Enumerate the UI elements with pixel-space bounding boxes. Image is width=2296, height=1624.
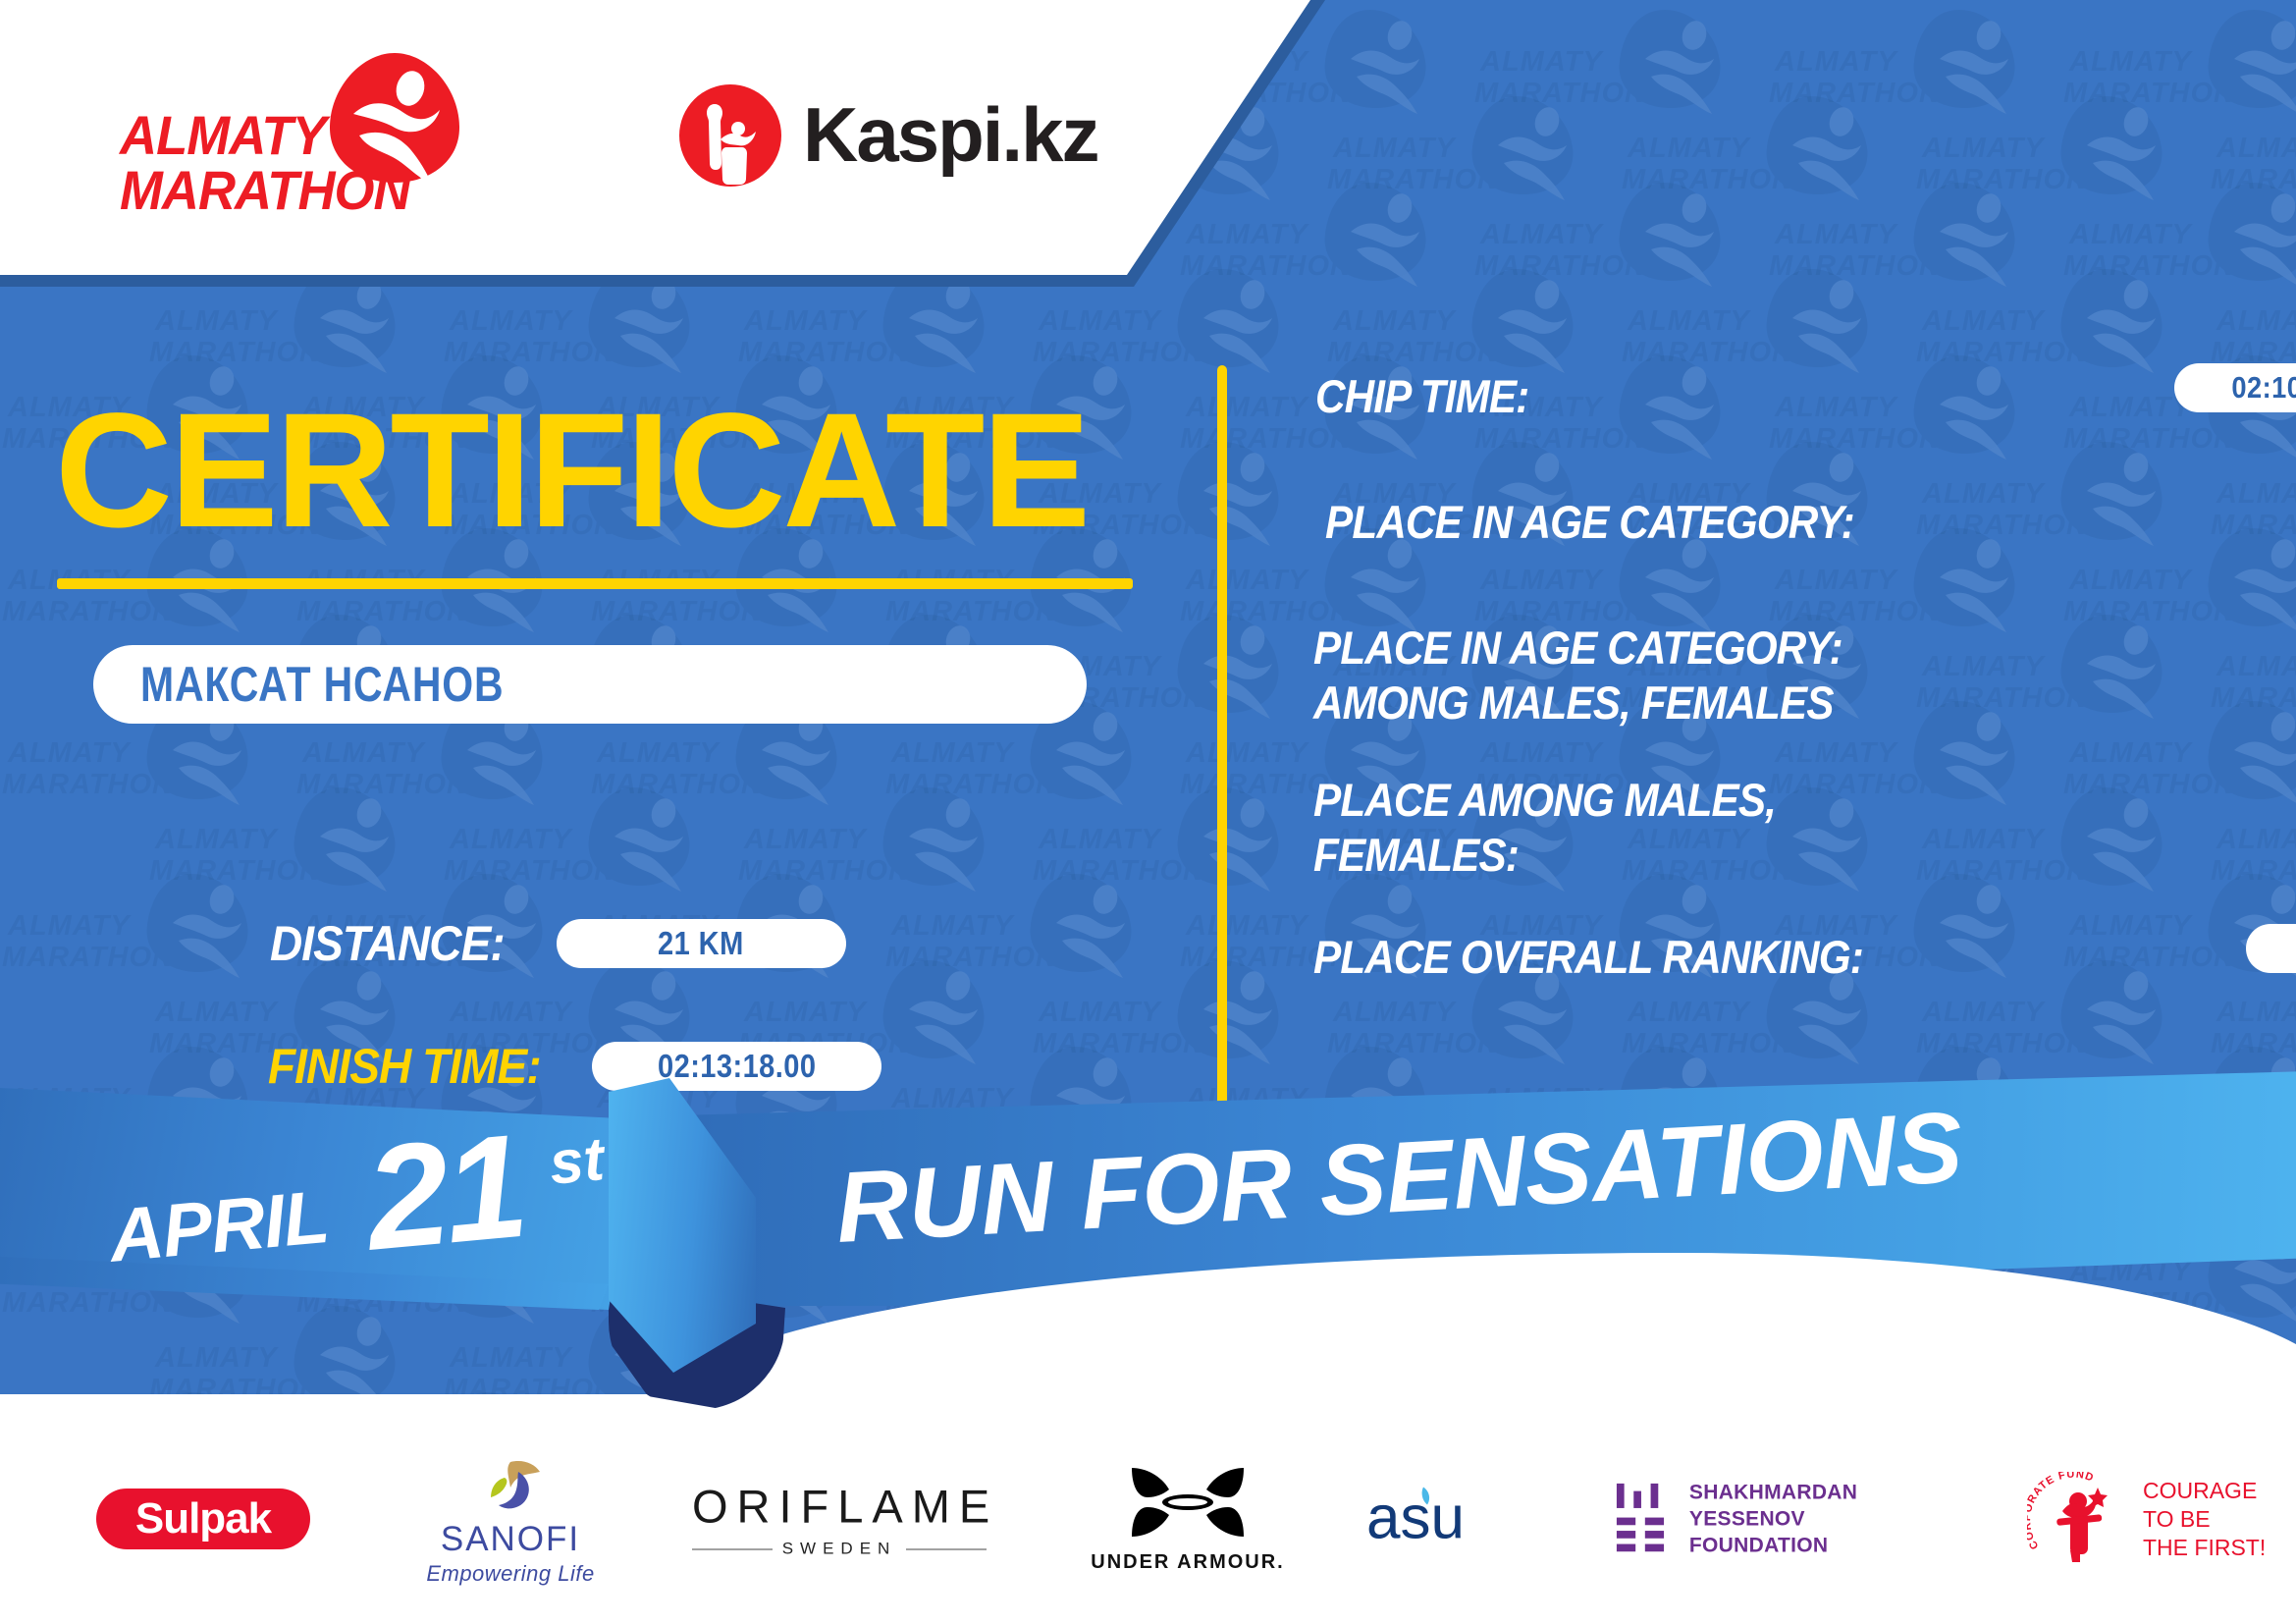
sanofi-bird-icon bbox=[475, 1460, 546, 1511]
stat-row-place-age-category: PLACE IN AGE CATEGORY: 1682 bbox=[1325, 495, 1913, 550]
sulpak-wordmark: Sulpak bbox=[135, 1494, 271, 1543]
kaspi-people-circle-icon bbox=[677, 82, 783, 189]
distance-label: DISTANCE: bbox=[270, 915, 505, 972]
oriflame-rule-left bbox=[692, 1548, 773, 1549]
oriflame-wordmark: ORIFLAME bbox=[692, 1480, 987, 1534]
courage-line3: THE FIRST! bbox=[2143, 1534, 2266, 1562]
asu-wordmark-icon: asu bbox=[1366, 1478, 1514, 1556]
under-armour-wordmark: UNDER ARMOUR. bbox=[1085, 1551, 1291, 1574]
stat-row-place-among-males-females: PLACE AMONG MALES, FEMALES: 1445 bbox=[1313, 773, 1827, 883]
participant-name-field: МАКСАТ НСАНОВ bbox=[93, 645, 1087, 724]
courage-fund-figure-icon: CORPORATE FUND bbox=[2027, 1472, 2133, 1566]
courage-line2: TO BE bbox=[2143, 1505, 2266, 1534]
courage-line1: COURAGE bbox=[2143, 1477, 2266, 1505]
oriflame-rule-right bbox=[906, 1548, 987, 1549]
stat-label: CHIP TIME: bbox=[1315, 369, 1528, 424]
sponsor-logo-under-armour: UNDER ARMOUR. bbox=[1085, 1464, 1291, 1574]
stat-value-pill: 02:10:57.00 bbox=[2174, 363, 2296, 412]
header: ALMATY MARATHON Kaspi.kz bbox=[0, 0, 1335, 287]
stat-label: PLACE IN AGE CATEGORY: bbox=[1325, 495, 1854, 550]
sponsor-logo-courage-fund: CORPORATE FUND COURAGE TO BE THE FIRST! bbox=[2027, 1472, 2272, 1566]
vertical-divider bbox=[1217, 365, 1227, 1107]
stat-label: PLACE IN AGE CATEGORY: AMONG MALES, FEMA… bbox=[1313, 621, 1842, 731]
yessenov-wordmark: SHAKHMARDAN YESSENOV FOUNDATION bbox=[1689, 1480, 1968, 1559]
ribbon-day-suffix: st bbox=[547, 1124, 607, 1199]
stat-label: PLACE AMONG MALES, FEMALES: bbox=[1313, 773, 1776, 883]
stat-value: 02:10:57.00 bbox=[2231, 370, 2296, 406]
stat-row-place-overall-ranking: PLACE OVERALL RANKING: 1682 bbox=[1313, 930, 1924, 985]
stat-row-place-age-category-among: PLACE IN AGE CATEGORY: AMONG MALES, FEMA… bbox=[1313, 621, 1901, 731]
sponsor-logo-sanofi: SANOFI Empowering Life bbox=[398, 1460, 623, 1578]
participant-name-value: МАКСАТ НСАНОВ bbox=[140, 656, 504, 713]
right-column-stats: CHIP TIME: 02:10:57.00 PLACE IN AGE CATE… bbox=[1227, 287, 2296, 1102]
sponsor-bar: Sulpak SANOFI Empowering Life ORIFLAME S… bbox=[0, 1414, 2296, 1624]
title-underline bbox=[57, 578, 1133, 589]
yessenov-line2: FOUNDATION bbox=[1689, 1533, 1968, 1559]
oriflame-sweden-text: SWEDEN bbox=[782, 1540, 897, 1559]
distance-row: DISTANCE: 21 KM bbox=[270, 915, 846, 972]
stat-row-chip-time: CHIP TIME: 02:10:57.00 bbox=[1315, 369, 1553, 424]
left-column: CERTIFICATE МАКСАТ НСАНОВ DISTANCE: 21 K… bbox=[0, 287, 1217, 1102]
yessenov-line1: SHAKHMARDAN YESSENOV bbox=[1689, 1480, 1968, 1533]
certificate-title: CERTIFICATE bbox=[55, 390, 1088, 553]
ribbon-banner: APRIL 21 st RUN FOR SENSATIONS bbox=[0, 1060, 2296, 1473]
kaspi-logo: Kaspi.kz bbox=[677, 77, 1090, 194]
distance-value: 21 KM bbox=[658, 925, 744, 962]
sponsor-logo-sulpak: Sulpak bbox=[96, 1489, 310, 1549]
sponsor-logo-asu: asu bbox=[1366, 1478, 1523, 1561]
sponsor-logo-yessenov-foundation: SHAKHMARDAN YESSENOV FOUNDATION bbox=[1615, 1480, 1968, 1559]
almaty-marathon-logo: ALMATY MARATHON bbox=[120, 57, 444, 209]
stat-label: PLACE OVERALL RANKING: bbox=[1313, 930, 1863, 985]
stat-value-pill: 1682 bbox=[2246, 924, 2296, 973]
svg-text:asu: asu bbox=[1366, 1485, 1465, 1552]
under-armour-icon bbox=[1124, 1464, 1252, 1541]
yessenov-bars-icon bbox=[1615, 1480, 1668, 1558]
sanofi-wordmark: SANOFI bbox=[398, 1520, 623, 1559]
sanofi-tagline: Empowering Life bbox=[398, 1561, 623, 1587]
runner-teardrop-icon bbox=[326, 49, 463, 187]
distance-value-pill: 21 KM bbox=[557, 919, 846, 968]
ribbon-day: 21 bbox=[360, 1111, 529, 1272]
certificate-canvas: ALMATY MARATHON Kaspi.kz CERTIFICATE bbox=[0, 0, 2296, 1624]
courage-fund-wordmark: COURAGE TO BE THE FIRST! bbox=[2143, 1477, 2266, 1562]
kaspi-logo-text: Kaspi.kz bbox=[803, 94, 1097, 175]
sponsor-logo-oriflame: ORIFLAME SWEDEN bbox=[692, 1480, 987, 1559]
oriflame-subline: SWEDEN bbox=[692, 1540, 987, 1559]
